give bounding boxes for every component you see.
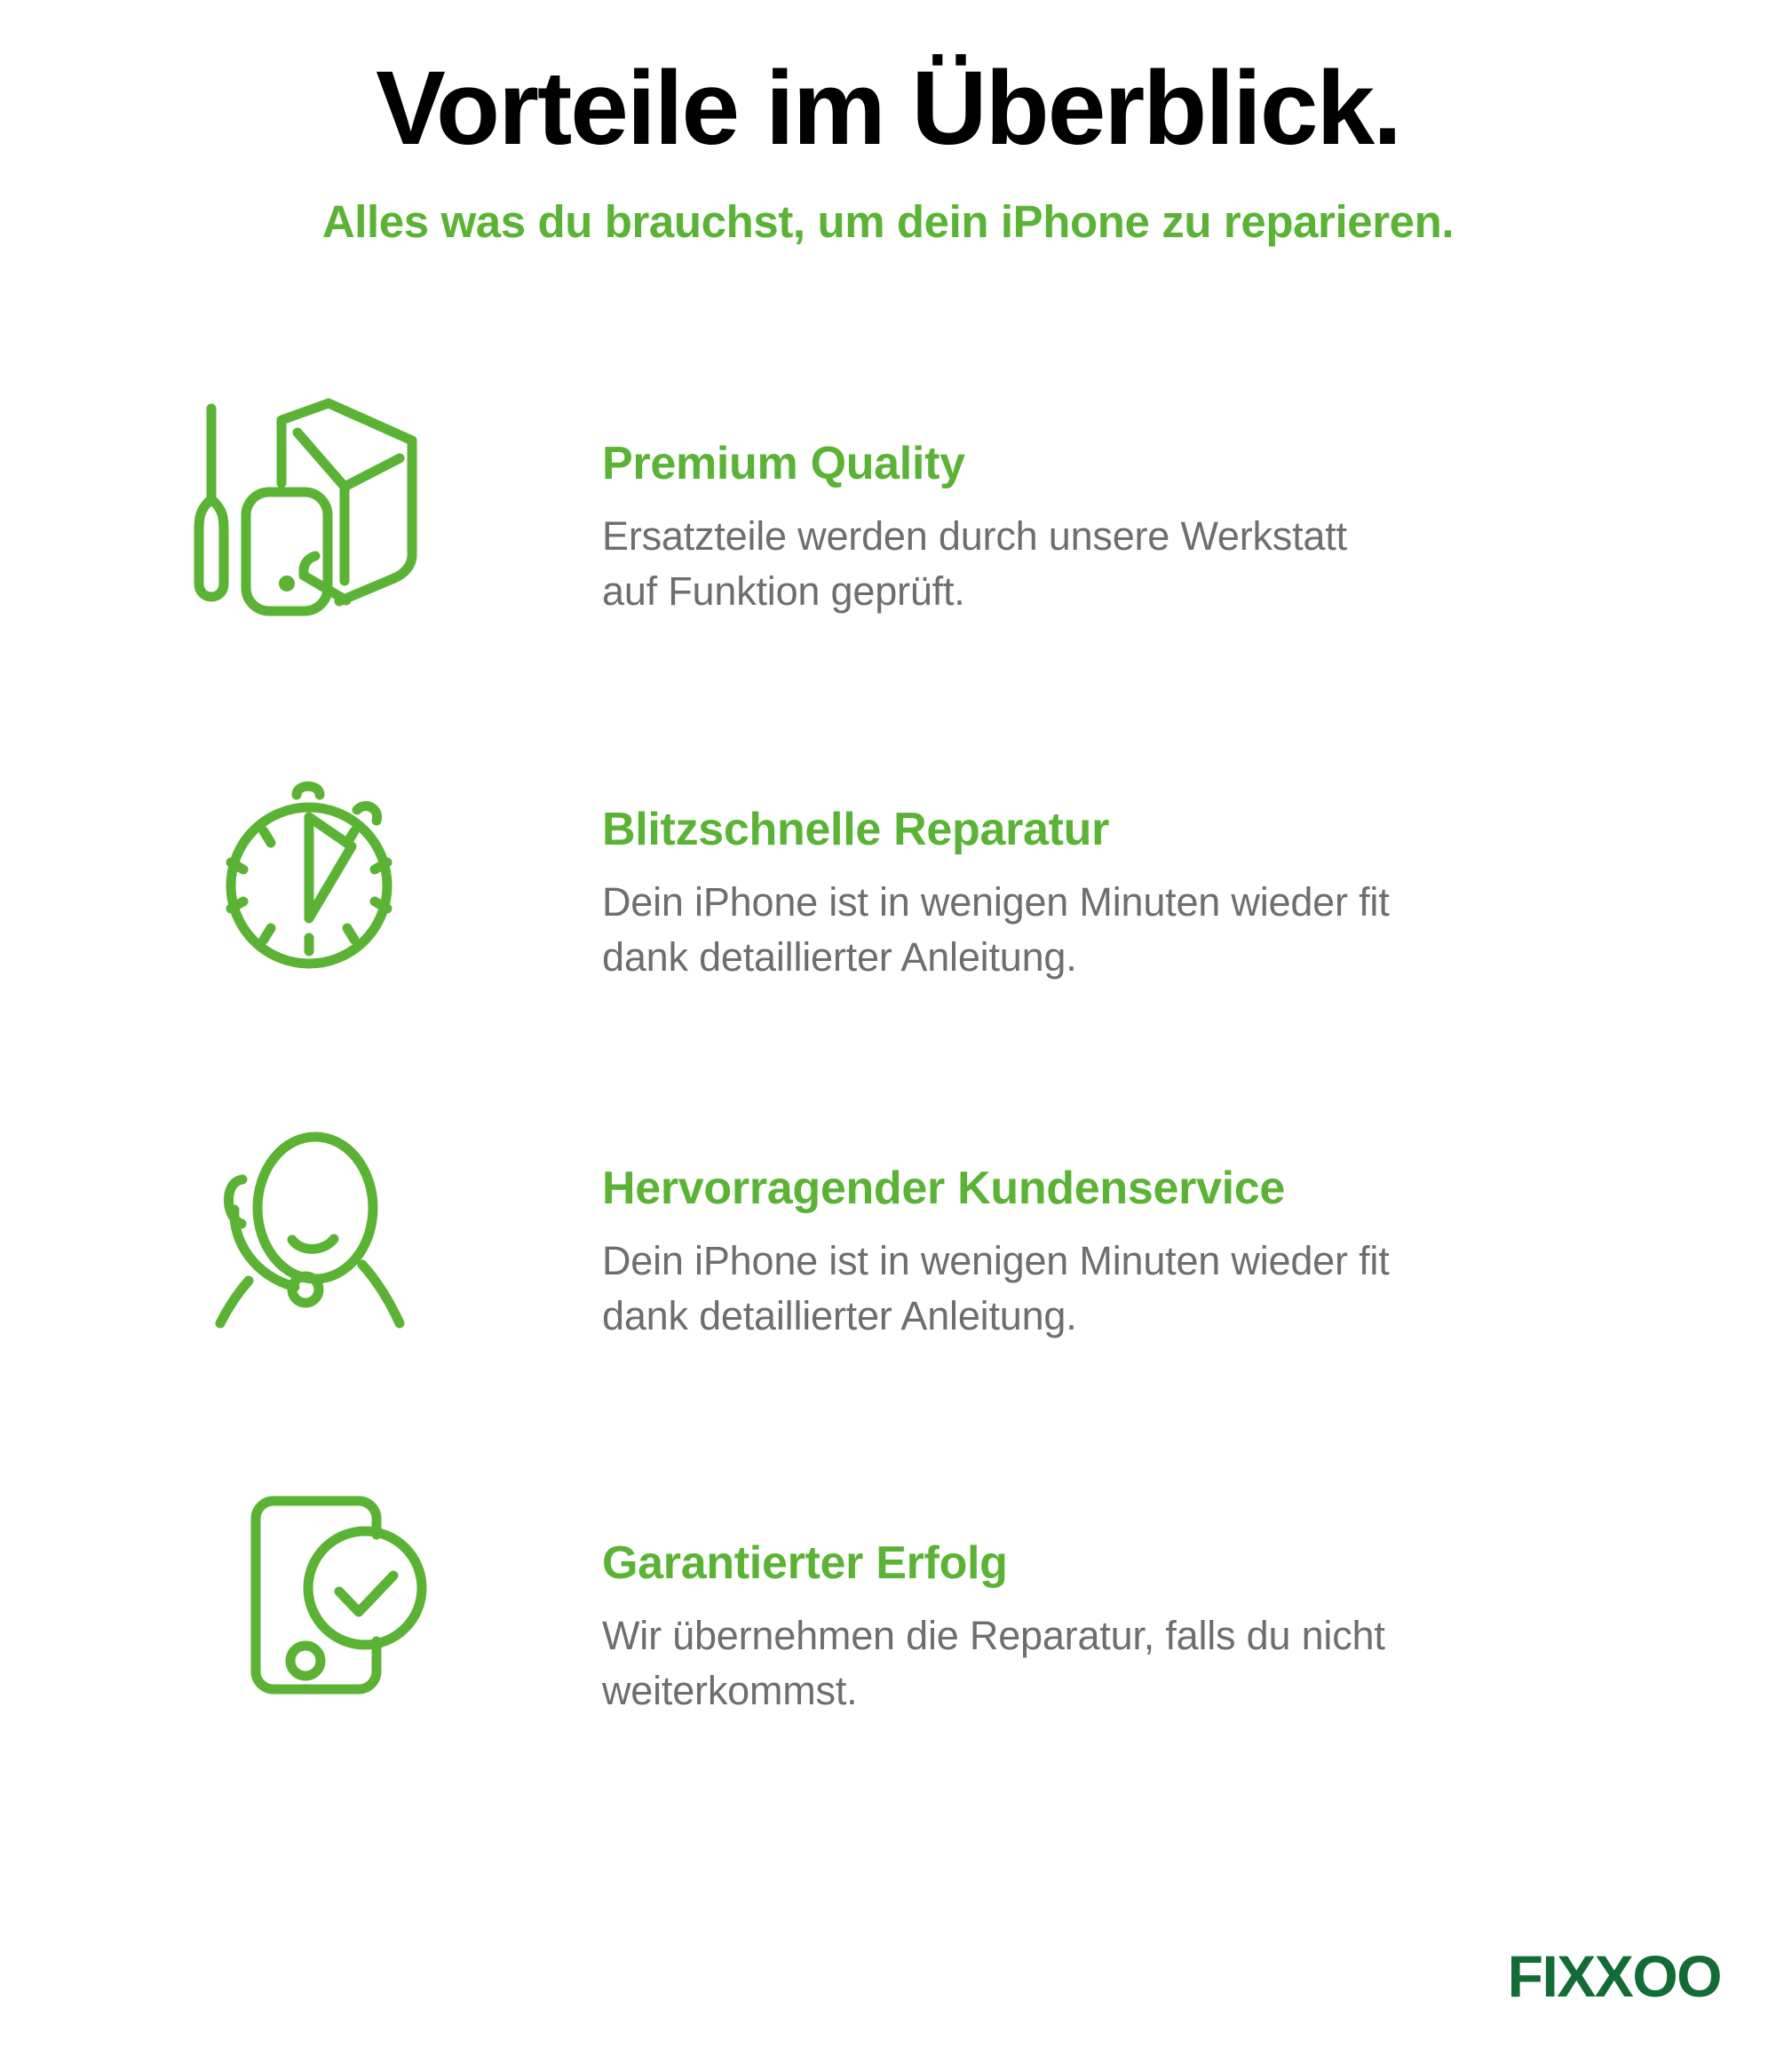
- fixxoo-logo: FIXXOO: [1508, 1947, 1721, 2005]
- page-title: Vorteile im Überblick.: [0, 55, 1776, 162]
- feature-title: Hervorragender Kundenservice: [602, 1163, 1776, 1214]
- feature-icon-cell: [0, 739, 602, 1094]
- feature-item-premium-quality: Premium Quality Ersatzteile werden durch…: [0, 384, 1776, 739]
- feature-text-cell: Blitzschnelle Reparatur Dein iPhone ist …: [602, 739, 1776, 985]
- feature-description: Ersatzteile werden durch unsere Werkstat…: [602, 489, 1650, 619]
- feature-icon-cell: [0, 1094, 602, 1449]
- feature-text-cell: Hervorragender Kundenservice Dein iPhone…: [602, 1094, 1776, 1344]
- feature-item-blitzschnelle-reparatur: Blitzschnelle Reparatur Dein iPhone ist …: [0, 739, 1776, 1094]
- infographic-page: Vorteile im Überblick. Alles was du brau…: [0, 0, 1776, 2072]
- page-subtitle: Alles was du brauchst, um dein iPhone zu…: [0, 162, 1776, 247]
- feature-description: Wir übernehmen die Reparatur, falls du n…: [602, 1589, 1650, 1719]
- header: Vorteile im Überblick. Alles was du brau…: [0, 55, 1776, 247]
- feature-description: Dein iPhone ist in wenigen Minuten wiede…: [602, 1214, 1650, 1344]
- feature-list: Premium Quality Ersatzteile werden durch…: [0, 384, 1776, 1805]
- stopwatch-icon: [220, 774, 411, 970]
- feature-text-cell: Garantierter Erfolg Wir übernehmen die R…: [602, 1449, 1776, 1719]
- feature-title: Premium Quality: [602, 439, 1776, 489]
- feature-item-garantierter-erfolg: Garantierter Erfolg Wir übernehmen die R…: [0, 1449, 1776, 1805]
- feature-description: Dein iPhone ist in wenigen Minuten wiede…: [602, 855, 1650, 985]
- feature-title: Blitzschnelle Reparatur: [602, 805, 1776, 855]
- footer: FIXXOO: [0, 1947, 1776, 2005]
- package-phone-tool-icon: [195, 400, 426, 617]
- feature-icon-cell: [0, 384, 602, 739]
- feature-title: Garantierter Erfolg: [602, 1538, 1776, 1589]
- feature-text-cell: Premium Quality Ersatzteile werden durch…: [602, 384, 1776, 619]
- headset-support-agent-icon: [210, 1130, 414, 1330]
- feature-item-hervorragender-kundenservice: Hervorragender Kundenservice Dein iPhone…: [0, 1094, 1776, 1449]
- phone-checkmark-icon: [249, 1489, 431, 1702]
- feature-icon-cell: [0, 1449, 602, 1805]
